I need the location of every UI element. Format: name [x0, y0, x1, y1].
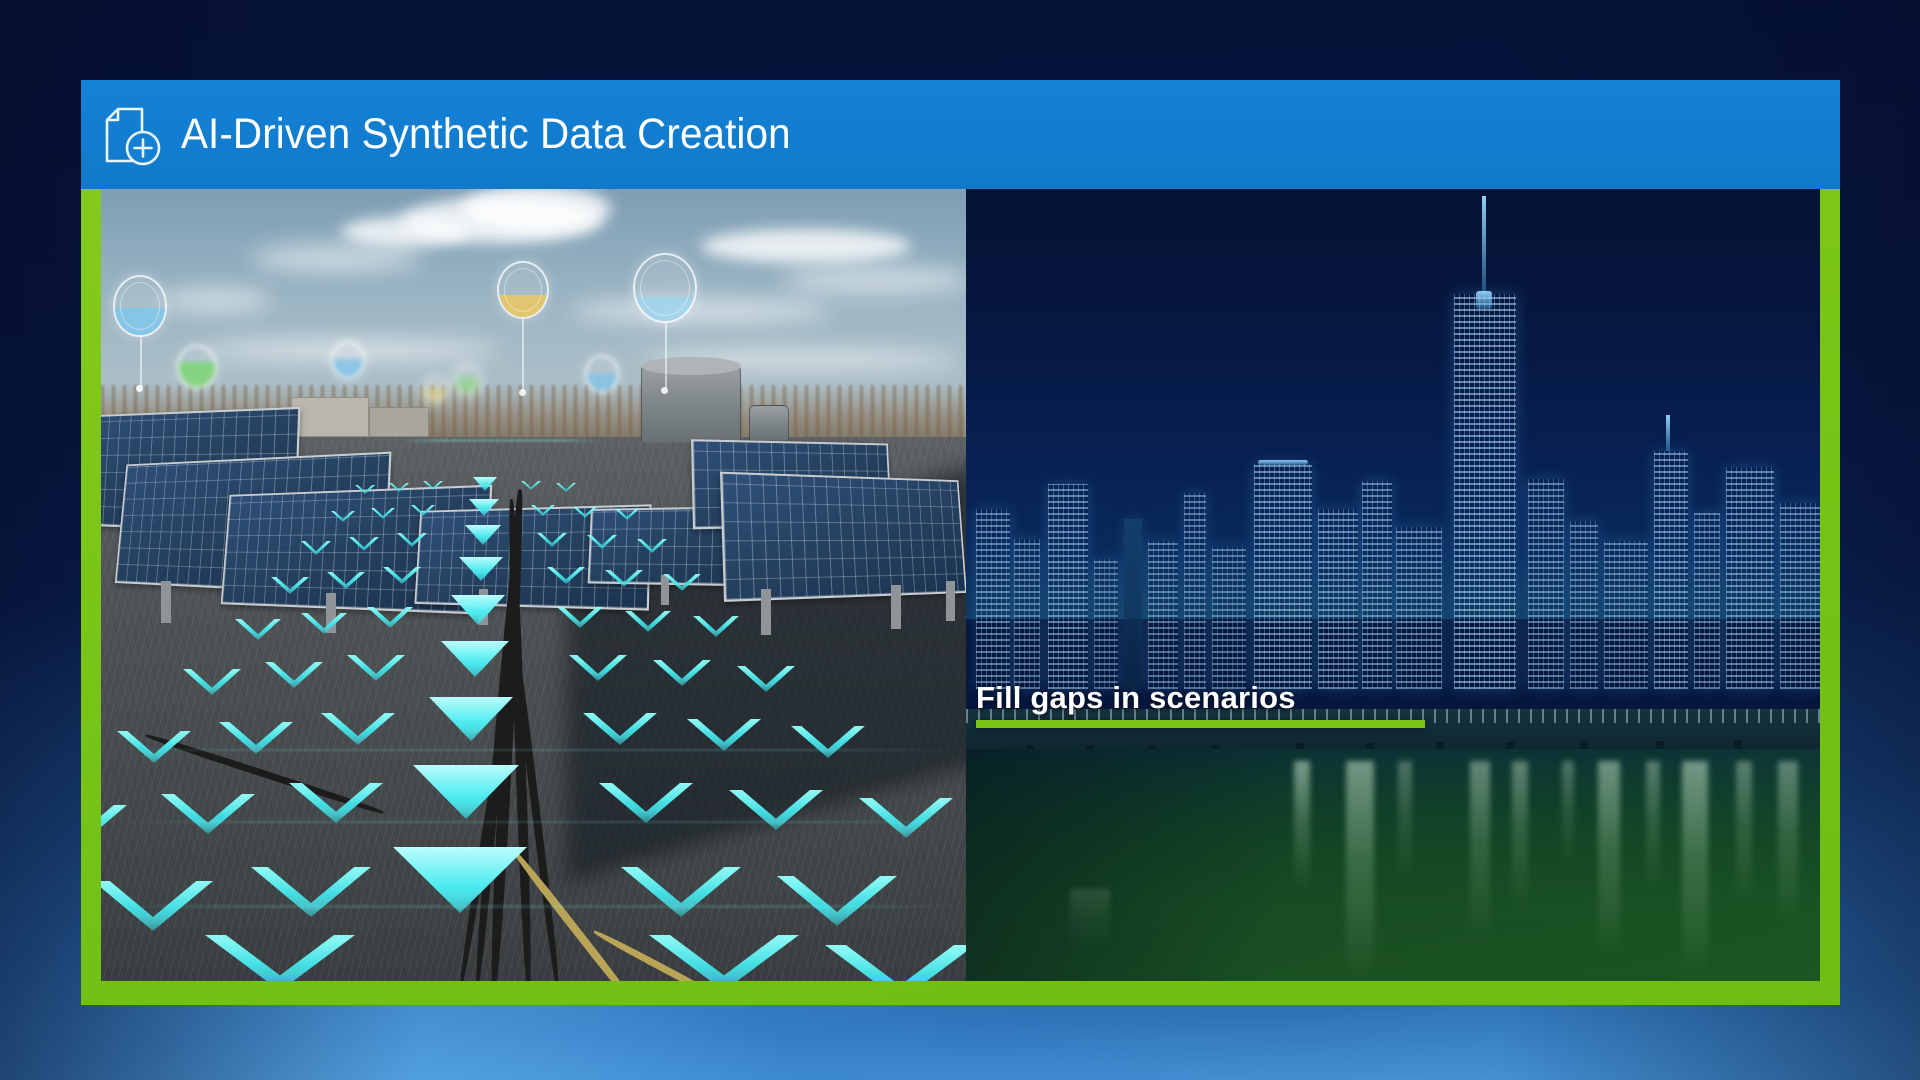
building: [1654, 451, 1688, 689]
panel-leg: [161, 581, 171, 623]
building: [1184, 493, 1206, 689]
document-add-icon: [102, 103, 162, 167]
caption-text: Fill gaps in scenarios: [976, 681, 1436, 715]
tower-antenna: [1666, 415, 1670, 451]
water-reflection: [1598, 761, 1620, 956]
water-reflection: [1778, 761, 1798, 926]
panel-leg: [761, 589, 771, 635]
bubble-ring: [640, 260, 690, 316]
rooftop-vent: [749, 405, 789, 441]
bubble-anchor: [661, 387, 668, 394]
water-reflection: [1470, 761, 1490, 936]
bubble-stem: [522, 319, 524, 391]
water-reflection: [1398, 761, 1412, 881]
media-frame: Fill gaps in scenarios: [81, 189, 1840, 1005]
ar-gridline: [101, 821, 966, 823]
building: [1124, 519, 1142, 689]
ar-data-bubble: [633, 253, 697, 323]
building: [976, 509, 1010, 689]
bubble-fill: [333, 359, 363, 377]
bubble-stem: [140, 337, 142, 387]
ar-data-bubble: [453, 365, 481, 395]
ar-data-bubble: [497, 261, 549, 319]
building: [1048, 484, 1088, 689]
caption-block: Fill gaps in scenarios: [976, 681, 1436, 728]
water-reflection: [1070, 889, 1110, 949]
building: [1694, 513, 1720, 689]
building: [1094, 559, 1118, 689]
night-city-skyline-image: Fill gaps in scenarios: [966, 189, 1820, 981]
rooftop-tank: [641, 365, 741, 443]
building: [1604, 541, 1648, 689]
caption-underline: [976, 720, 1425, 728]
ar-gridline: [101, 905, 966, 908]
water-reflection: [1512, 761, 1528, 911]
distant-building: [369, 407, 429, 437]
building: [1318, 509, 1358, 689]
ar-horizon-glow: [401, 439, 601, 442]
bubble-anchor: [519, 389, 526, 396]
bubble-stem: [665, 323, 667, 389]
ar-data-bubble: [423, 377, 447, 403]
building: [1148, 541, 1178, 689]
page-title: AI-Driven Synthetic Data Creation: [181, 113, 791, 156]
media-inner: Fill gaps in scenarios: [101, 189, 1820, 981]
bubble-fill: [425, 389, 445, 401]
bubble-fill: [179, 362, 215, 387]
cloud: [251, 245, 421, 271]
building: [1362, 481, 1392, 689]
cloud: [341, 217, 471, 247]
tower-spire: [1482, 196, 1486, 294]
solar-panel: [720, 472, 966, 602]
water-reflection: [1346, 761, 1374, 981]
bubble-fill: [455, 378, 479, 393]
building: [1212, 547, 1246, 689]
ar-gridline: [101, 749, 966, 751]
rooftop-solar-ar-image: [101, 189, 966, 981]
ar-data-bubble: [113, 275, 167, 337]
building: [1528, 479, 1564, 689]
water-reflection: [1736, 761, 1752, 906]
slide-header-bar: AI-Driven Synthetic Data Creation: [81, 80, 1840, 189]
ar-data-bubble: [585, 355, 619, 393]
panel-leg: [891, 585, 901, 629]
building: [1780, 503, 1820, 689]
building-crown-light: [1258, 460, 1308, 465]
water-reflection: [1294, 761, 1310, 891]
cloud: [161, 289, 271, 311]
slide: AI-Driven Synthetic Data Creation: [0, 0, 1920, 1080]
tower-antenna-base: [1476, 291, 1492, 309]
one-world-trade-center: [1454, 294, 1516, 689]
water-reflection: [1646, 761, 1660, 891]
building: [1254, 464, 1312, 689]
rooftop-tank-top: [641, 357, 741, 375]
cloud: [571, 299, 831, 323]
building: [1396, 527, 1442, 689]
ar-data-bubble: [331, 341, 365, 379]
water-reflection: [1562, 761, 1574, 866]
building: [1014, 539, 1040, 689]
bubble-fill: [587, 374, 617, 391]
water-reflection: [1682, 761, 1708, 976]
bubble-ring: [120, 282, 160, 330]
panel-leg: [946, 581, 955, 621]
bubble-ring: [504, 268, 542, 312]
building: [1726, 467, 1774, 689]
cloud: [701, 229, 911, 263]
building: [1570, 521, 1598, 689]
panel-leg: [661, 575, 669, 605]
ar-data-bubble: [177, 345, 217, 389]
distant-building: [291, 397, 369, 437]
bubble-anchor: [136, 385, 143, 392]
cloud: [781, 267, 966, 293]
